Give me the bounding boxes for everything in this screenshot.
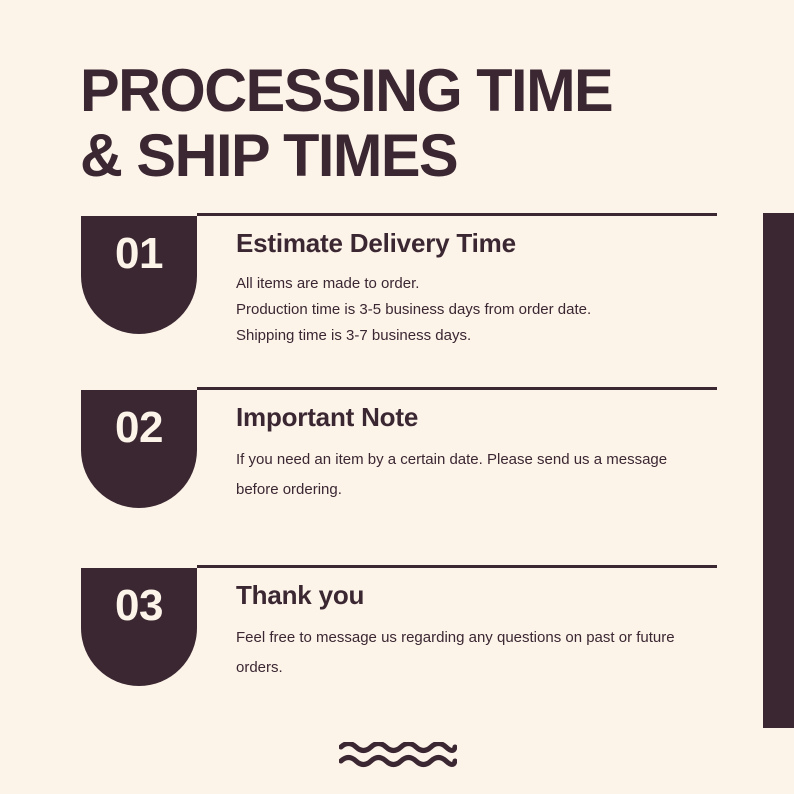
section-divider xyxy=(197,565,717,568)
page-title: PROCESSING TIME & SHIP TIMES xyxy=(80,58,740,188)
page-title-line-2: & SHIP TIMES xyxy=(80,123,733,188)
section-divider xyxy=(197,387,717,390)
poster-canvas: PROCESSING TIME & SHIP TIMES 01 Estimate… xyxy=(0,0,794,794)
section-content: Estimate Delivery Time All items are mad… xyxy=(236,227,736,349)
section-heading: Thank you xyxy=(236,579,736,611)
section-number-label: 02 xyxy=(81,404,197,452)
section-line: Shipping time is 3-7 business days. xyxy=(236,323,736,349)
section-number-badge: 02 xyxy=(81,390,197,508)
page-title-line-1: PROCESSING TIME xyxy=(80,58,733,123)
section-paragraph: Feel free to message us regarding any qu… xyxy=(236,623,706,683)
section-number-badge: 03 xyxy=(81,568,197,686)
section-heading: Estimate Delivery Time xyxy=(236,227,736,259)
right-accent-bar xyxy=(763,213,794,728)
section-number-badge: 01 xyxy=(81,216,197,334)
section-number-label: 01 xyxy=(81,230,197,278)
double-wave-icon xyxy=(339,742,457,768)
section-heading: Important Note xyxy=(236,401,736,433)
section-divider xyxy=(197,213,717,216)
section-paragraph: If you need an item by a certain date. P… xyxy=(236,445,706,505)
section-line: Production time is 3-5 business days fro… xyxy=(236,297,736,323)
section-number-label: 03 xyxy=(81,582,197,630)
section-line: All items are made to order. xyxy=(236,271,736,297)
section-content: Thank you Feel free to message us regard… xyxy=(236,579,736,683)
section-content: Important Note If you need an item by a … xyxy=(236,401,736,505)
